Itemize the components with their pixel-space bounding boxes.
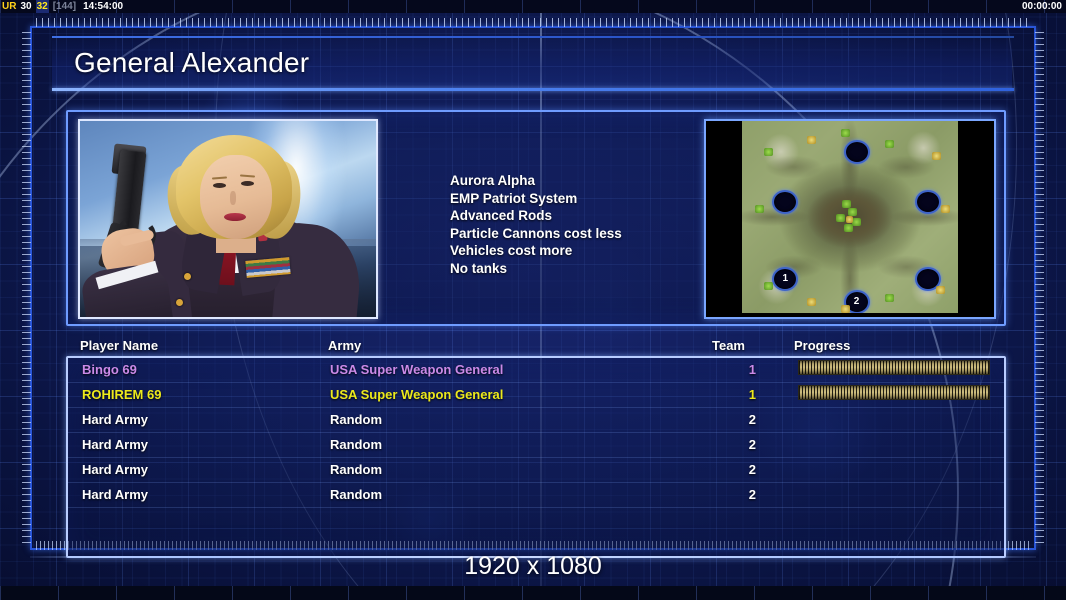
ability-item: Vehicles cost more [450, 242, 750, 260]
table-row[interactable]: Hard ArmyRandom2 [68, 483, 1004, 508]
ability-item: EMP Patriot System [450, 190, 750, 208]
ruler-right [1035, 32, 1044, 544]
top-bar-num2: 32 [36, 0, 49, 13]
bottom-strip [0, 586, 1066, 600]
table-row[interactable]: ROHIREM 69USA Super Weapon General1 [68, 383, 1004, 408]
column-header-progress: Progress [794, 338, 850, 353]
cell-team: 2 [734, 410, 756, 430]
top-bar-tag: UR [2, 0, 16, 13]
ability-item: Advanced Rods [450, 207, 750, 225]
ability-item: No tanks [450, 260, 750, 278]
cell-army: Random [330, 435, 382, 455]
cell-army: USA Super Weapon General [330, 360, 503, 380]
loading-screen: UR 30 32 [144] 14:54:00 00:00:00 General… [0, 0, 1066, 600]
general-ability-list: Aurora Alpha EMP Patriot System Advanced… [450, 172, 750, 277]
cell-team: 1 [734, 360, 756, 380]
top-bar-timer: 00:00:00 [1022, 0, 1062, 13]
map-resource [836, 214, 845, 222]
top-bar-num1: 30 [20, 0, 31, 13]
cell-progress [798, 360, 988, 374]
map-resource [844, 224, 853, 232]
column-header-army: Army [328, 338, 361, 353]
portrait-nose [230, 191, 236, 205]
cell-player-name: Hard Army [82, 435, 148, 455]
cell-army: Random [330, 410, 382, 430]
top-bar-clock: 14:54:00 [83, 0, 123, 13]
table-row[interactable]: Hard ArmyRandom2 [68, 458, 1004, 483]
table-row[interactable]: Bingo 69USA Super Weapon General1 [68, 358, 1004, 383]
top-bar-left-group: UR 30 32 [144] 14:54:00 [0, 0, 123, 13]
cell-player-name: Hard Army [82, 485, 148, 505]
map-resource [764, 148, 773, 156]
map-resource [841, 129, 850, 137]
portrait-eye-left [213, 183, 226, 188]
cell-team: 1 [734, 385, 756, 405]
portrait-button-lower [176, 299, 183, 306]
cell-team: 2 [734, 435, 756, 455]
cell-player-name: Hard Army [82, 410, 148, 430]
map-resource [807, 298, 816, 306]
map-resource-gold [846, 216, 853, 223]
map-resource [941, 205, 950, 213]
player-table-header: Player Name Army Team Progress [66, 338, 1002, 358]
table-row[interactable]: Hard ArmyRandom2 [68, 433, 1004, 458]
top-status-bar: UR 30 32 [144] 14:54:00 00:00:00 [0, 0, 1066, 13]
map-resource [842, 200, 851, 208]
map-resource [841, 305, 850, 313]
header-underline [52, 88, 1014, 91]
cell-player-name: ROHIREM 69 [82, 385, 161, 405]
map-resource [885, 294, 894, 302]
header-top-rule [52, 36, 1014, 38]
map-resource [885, 140, 894, 148]
map-resource [764, 282, 773, 290]
cell-team: 2 [734, 485, 756, 505]
map-start-position [915, 190, 941, 214]
map-center-resources [830, 200, 870, 234]
page-title: General Alexander [74, 47, 309, 79]
portrait-lips [224, 213, 246, 221]
map-start-position [844, 140, 870, 164]
progress-bar [798, 385, 990, 400]
ruler-top [36, 18, 1030, 27]
map-resource [807, 136, 816, 144]
ability-item: Particle Cannons cost less [450, 225, 750, 243]
resolution-label: 1920 x 1080 [0, 552, 1066, 581]
cell-player-name: Bingo 69 [82, 360, 137, 380]
player-table: Bingo 69USA Super Weapon General1ROHIREM… [66, 356, 1006, 558]
ruler-left [22, 32, 31, 544]
portrait-button-upper [184, 273, 191, 280]
column-header-player-name: Player Name [80, 338, 158, 353]
cell-army: USA Super Weapon General [330, 385, 503, 405]
portrait-face [200, 155, 272, 239]
map-resource [755, 205, 764, 213]
progress-bar [798, 360, 990, 375]
cell-army: Random [330, 460, 382, 480]
map-resource [932, 152, 941, 160]
cell-player-name: Hard Army [82, 460, 148, 480]
ability-item: Aurora Alpha [450, 172, 750, 190]
top-bar-ticks [0, 0, 1066, 13]
general-portrait [78, 119, 378, 319]
map-start-position-1: 1 [772, 267, 798, 291]
map-resource [848, 208, 857, 216]
cell-army: Random [330, 485, 382, 505]
top-bar-bracket: [144] [53, 0, 76, 13]
general-info-panel: Aurora Alpha EMP Patriot System Advanced… [66, 110, 1006, 326]
portrait-eye-right [241, 181, 254, 186]
map-resource [852, 218, 861, 226]
cell-team: 2 [734, 460, 756, 480]
cell-progress [798, 385, 988, 399]
map-preview-image: 12 [742, 121, 958, 313]
map-resource [936, 286, 945, 294]
table-row[interactable]: Hard ArmyRandom2 [68, 408, 1004, 433]
column-header-team: Team [712, 338, 745, 353]
